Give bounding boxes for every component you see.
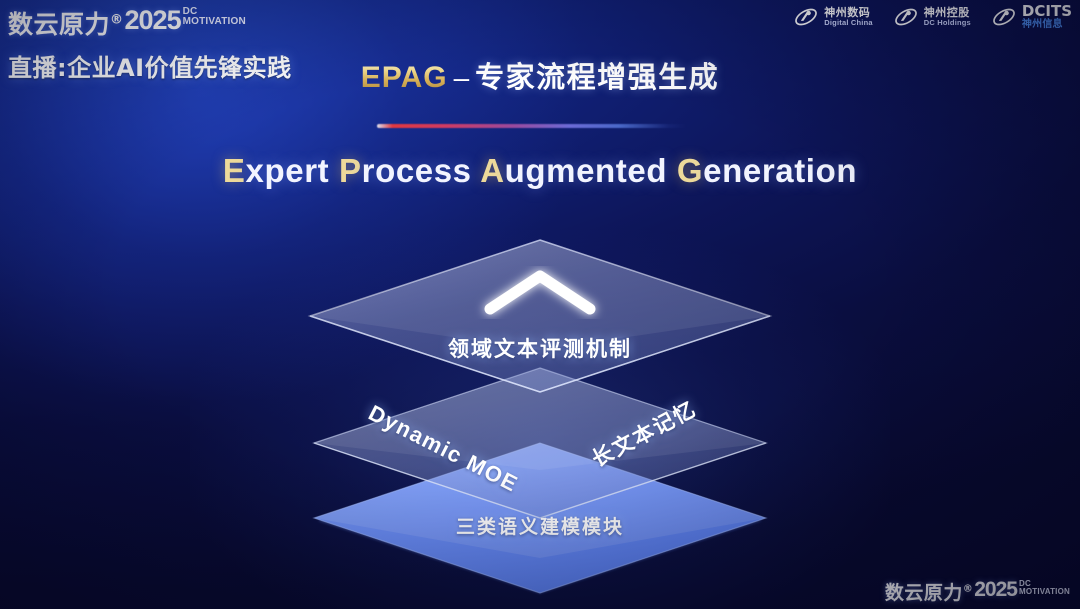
- subtitle-part: E: [223, 152, 246, 189]
- layer-edge-label-right: 长文本记忆: [586, 393, 702, 473]
- brand-subtitle: DC MOTIVATION: [183, 7, 246, 27]
- subtitle-part: A: [480, 152, 504, 189]
- registered-mark-icon: ®: [110, 13, 124, 28]
- subtitle-part: G: [677, 152, 703, 189]
- layer-edge-label-left: Dynamic MOE: [364, 400, 522, 498]
- subtitle-part: P: [339, 152, 362, 189]
- partner-logo-group: 神州数码 Digital China 神州控股 DC Holdings: [793, 4, 1072, 30]
- partner-logo-dcits: DCITS 神州信息: [991, 4, 1072, 30]
- slide-subtitle: Expert Process Augmented Generation: [0, 152, 1080, 190]
- slide-canvas: 数云原力® 2025 DC MOTIVATION 直播:企业AI价值先锋实践 神…: [0, 0, 1080, 609]
- title-dash: –: [454, 62, 470, 93]
- registered-mark-icon: ®: [963, 584, 973, 595]
- partner-name-en: 神州信息: [1022, 20, 1072, 31]
- brand-sub-line2: MOTIVATION: [183, 16, 246, 27]
- brand-name-cn: 数云原力®: [885, 578, 973, 605]
- slide-title: EPAG–专家流程增强生成: [0, 54, 1080, 96]
- subtitle-part: eneration: [703, 152, 857, 189]
- brand-name-cn: 数云原力®: [8, 5, 124, 41]
- title-acronym: EPAG: [361, 61, 448, 94]
- layer-middle: [314, 368, 766, 518]
- layer-label-top: 领域文本评测机制: [0, 333, 1080, 363]
- brand-year: 2025: [974, 578, 1017, 602]
- swirl-logo-icon: [991, 4, 1017, 30]
- partner-logo-dc-holdings: 神州控股 DC Holdings: [893, 4, 971, 30]
- brand-sub-line2: MOTIVATION: [1019, 587, 1070, 596]
- partner-text: DCITS 神州信息: [1022, 4, 1072, 30]
- subtitle-part: xpert: [246, 152, 339, 189]
- partner-text: 神州数码 Digital China: [824, 7, 872, 26]
- partner-text: 神州控股 DC Holdings: [924, 7, 971, 26]
- partner-name-en: DC Holdings: [924, 19, 971, 27]
- partner-name-cn: DCITS: [1022, 4, 1072, 20]
- brand-year: 2025: [125, 5, 181, 36]
- background-glow-center: [190, 230, 890, 609]
- partner-name-en: Digital China: [824, 19, 872, 27]
- subtitle-part: ugmented: [505, 152, 677, 189]
- swirl-logo-icon: [793, 4, 819, 30]
- layer-top: [310, 240, 770, 392]
- layer-bottom: [314, 443, 766, 594]
- layer-label-bottom: 三类语义建模模块: [0, 512, 1080, 539]
- brand-logo-watermark: 数云原力® 2025 DC MOTIVATION: [885, 578, 1070, 605]
- swirl-logo-icon: [893, 4, 919, 30]
- brand-logo-topleft: 数云原力® 2025 DC MOTIVATION: [8, 5, 246, 41]
- chevron-up-icon: [490, 276, 590, 309]
- title-chinese: 专家流程增强生成: [475, 60, 719, 94]
- brand-subtitle: DC MOTIVATION: [1019, 580, 1070, 596]
- partner-logo-digital-china: 神州数码 Digital China: [793, 4, 872, 30]
- subtitle-part: rocess: [362, 152, 481, 189]
- title-divider: [377, 124, 687, 128]
